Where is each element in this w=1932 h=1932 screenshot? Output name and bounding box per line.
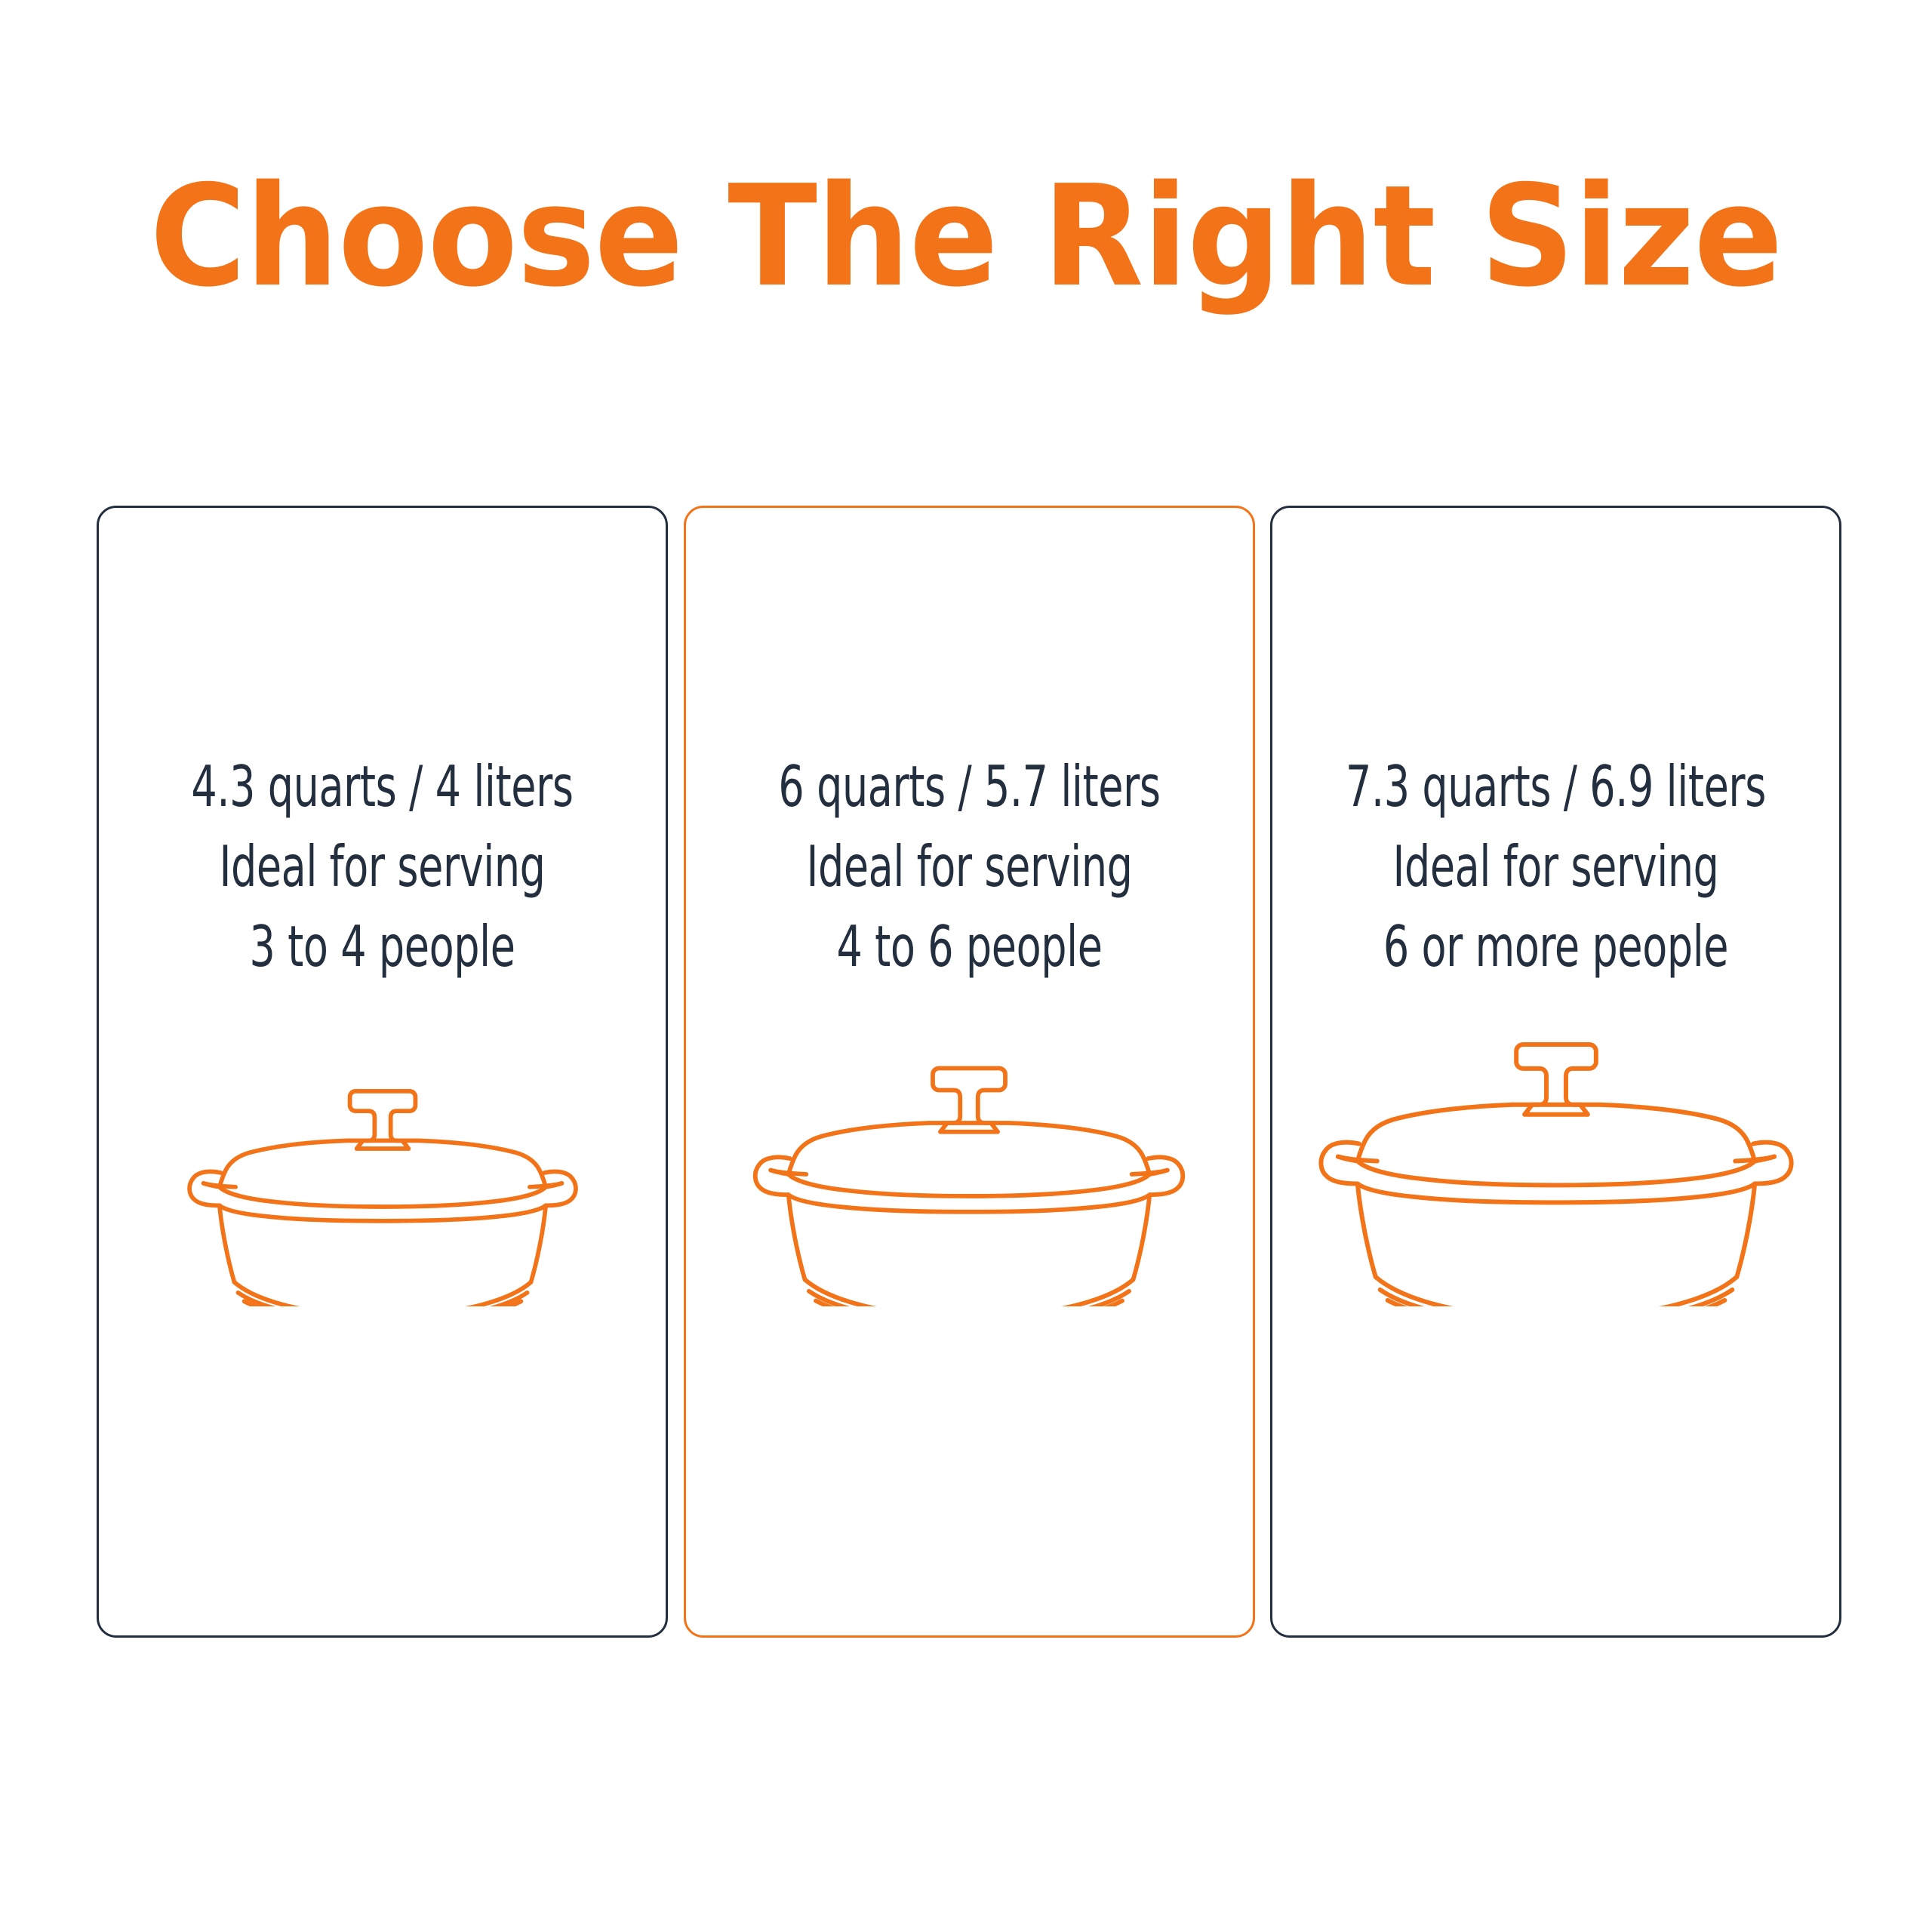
pot-illustration-wrap	[1272, 1031, 1839, 1306]
pot-illustration-wrap	[99, 1080, 666, 1306]
size-card-medium[interactable]: 6 quarts / 5.7 liters Ideal for serving …	[684, 506, 1255, 1638]
size-card-row: 4.3 quarts / 4 liters Ideal for serving …	[97, 506, 1841, 1638]
serving-label: Ideal for serving	[155, 826, 609, 906]
pot-illustration-wrap	[686, 1056, 1253, 1306]
dutch-oven-pot-icon	[750, 1056, 1188, 1306]
size-card-text: 4.3 quarts / 4 liters Ideal for serving …	[99, 746, 666, 986]
capacity-label: 6 quarts / 5.7 liters	[743, 746, 1196, 826]
dutch-oven-pot-icon	[185, 1080, 580, 1306]
dutch-oven-pot-icon	[1315, 1031, 1797, 1306]
size-card-text: 6 quarts / 5.7 liters Ideal for serving …	[686, 746, 1253, 986]
choose-the-right-size-infographic: Choose The Right Size 4.3 quarts / 4 lit…	[0, 0, 1932, 1932]
size-card-text: 7.3 quarts / 6.9 liters Ideal for servin…	[1272, 746, 1839, 986]
serving-count-label: 4 to 6 people	[743, 906, 1196, 986]
capacity-label: 4.3 quarts / 4 liters	[155, 746, 609, 826]
size-card-small[interactable]: 4.3 quarts / 4 liters Ideal for serving …	[97, 506, 668, 1638]
serving-count-label: 3 to 4 people	[155, 906, 609, 986]
serving-label: Ideal for serving	[743, 826, 1196, 906]
size-card-large[interactable]: 7.3 quarts / 6.9 liters Ideal for servin…	[1270, 506, 1841, 1638]
serving-count-label: 6 or more people	[1329, 906, 1783, 986]
serving-label: Ideal for serving	[1329, 826, 1783, 906]
capacity-label: 7.3 quarts / 6.9 liters	[1329, 746, 1783, 826]
page-title: Choose The Right Size	[58, 163, 1874, 309]
